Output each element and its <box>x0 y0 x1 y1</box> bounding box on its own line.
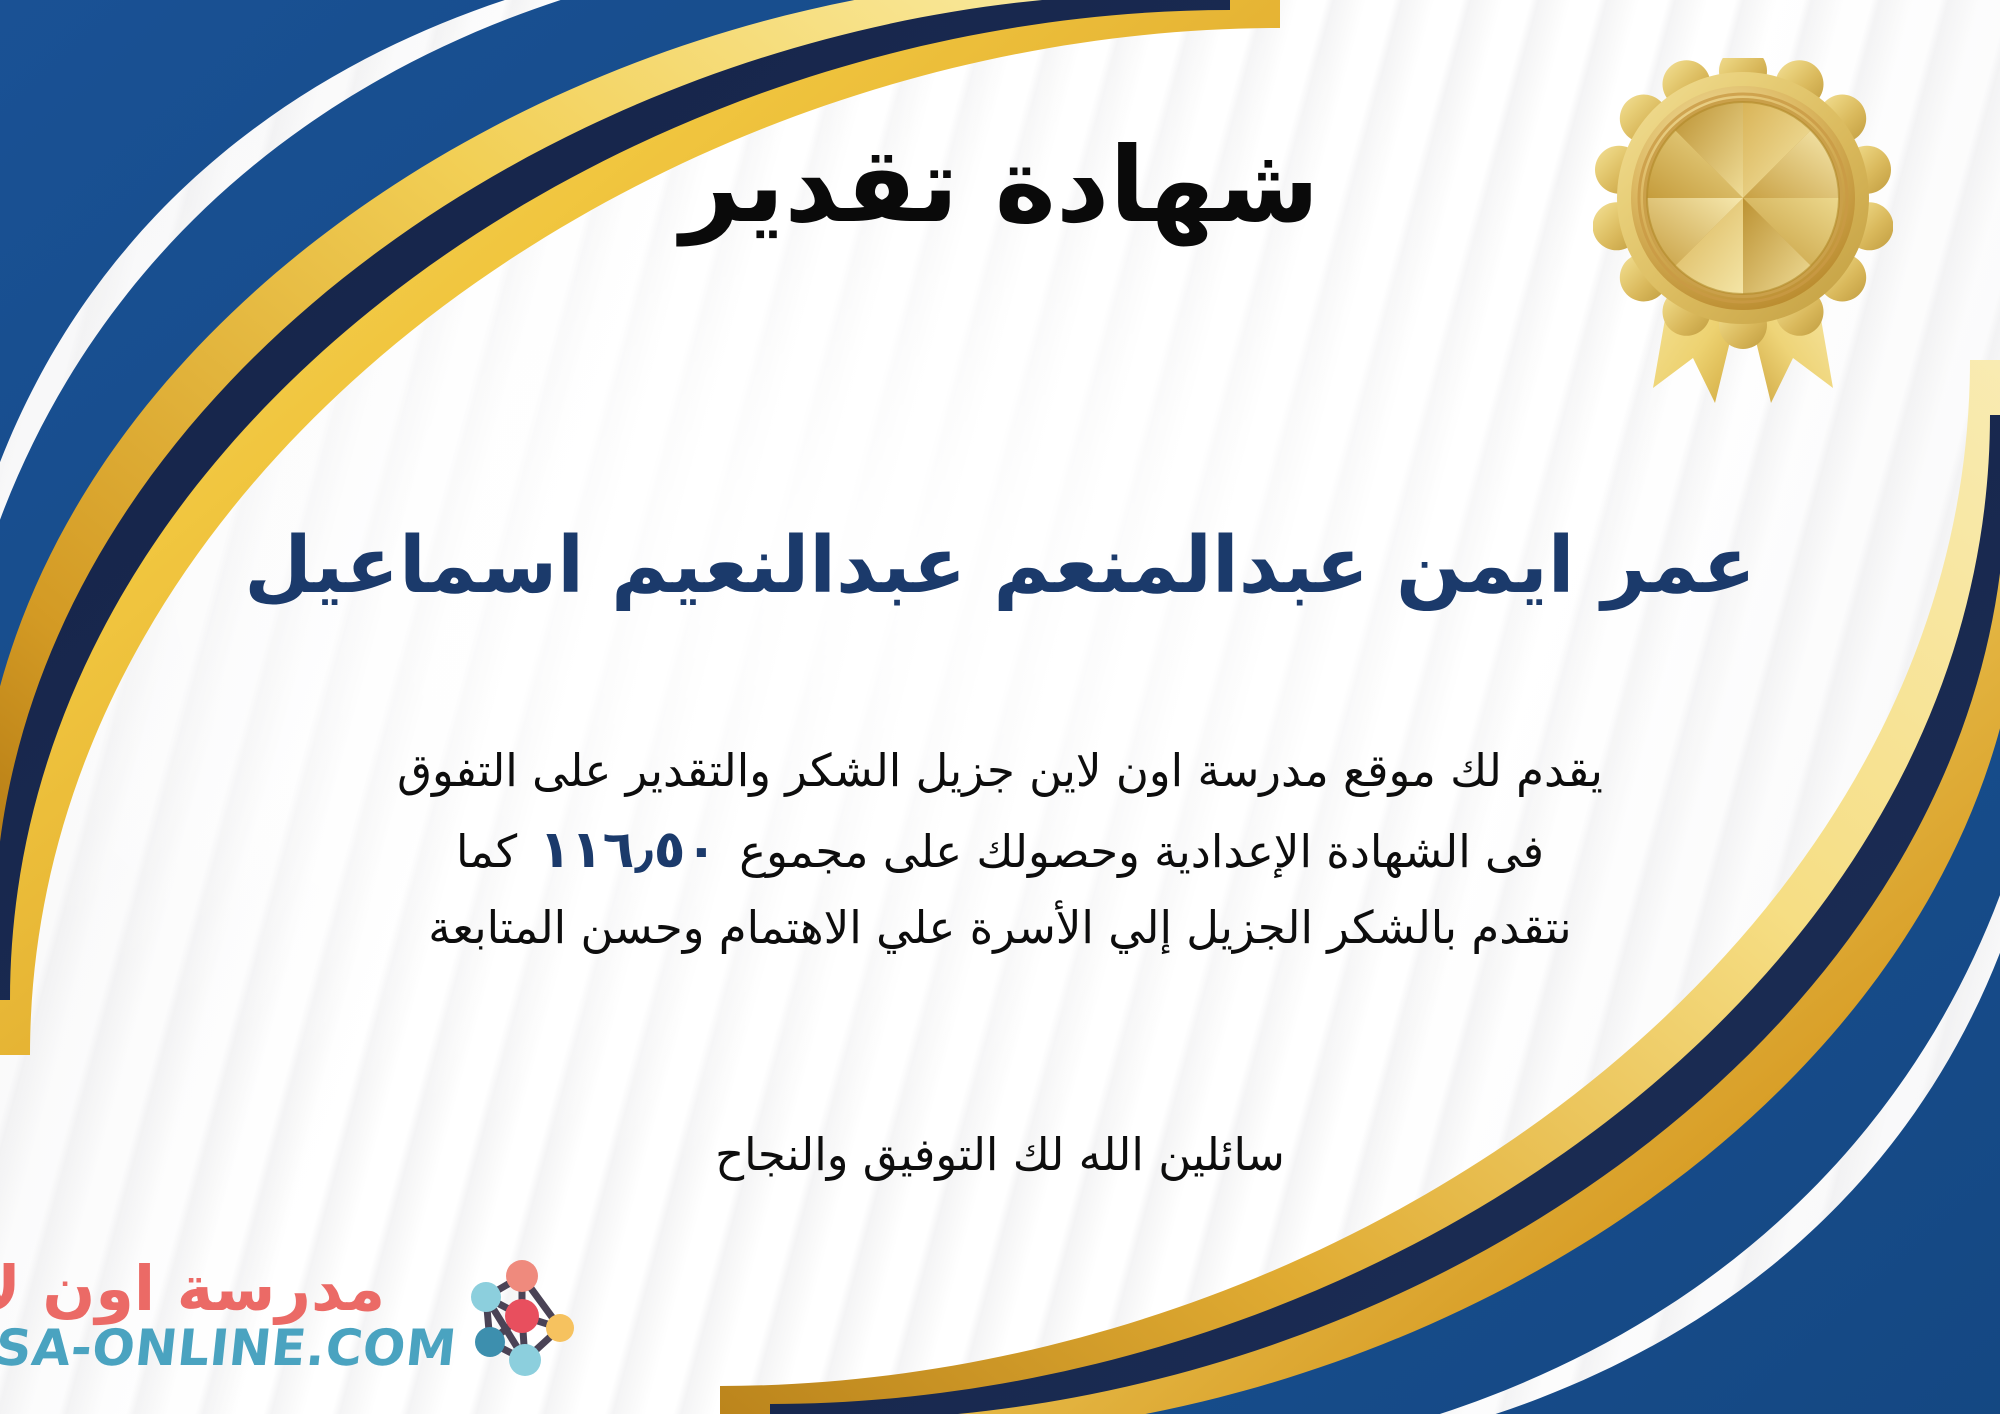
body-line-2: فى الشهادة الإعدادية وحصولك على مجموع١١٦… <box>60 808 1940 892</box>
brand-arabic-name: مدرسة اون لاين <box>0 1256 456 1321</box>
brand-website-url[interactable]: MADRSA-ONLINE.COM <box>0 1321 459 1376</box>
body-line-2-suffix: كما <box>456 825 517 878</box>
closing-wish-text: سائلين الله لك التوفيق والنجاح <box>0 1128 2000 1181</box>
brand-text-block: مدرسة اون لاين MADRSA-ONLINE.COM <box>0 1256 456 1376</box>
body-line-3: نتقدم بالشكر الجزيل إلي الأسرة علي الاهت… <box>60 892 1940 965</box>
student-name: عمر ايمن عبدالمنعم عبدالنعيم اسماعيل <box>40 520 1960 614</box>
body-line-2-prefix: فى الشهادة الإعدادية وحصولك على مجموع <box>739 825 1544 878</box>
body-line-1: يقدم لك موقع مدرسة اون لاين جزيل الشكر و… <box>60 735 1940 808</box>
total-score-value: ١١٦٫٥٠ <box>517 820 739 880</box>
certificate-title: شهادة تقدير <box>0 128 2000 242</box>
network-nodes-icon <box>456 1250 588 1382</box>
certificate-body: يقدم لك موقع مدرسة اون لاين جزيل الشكر و… <box>60 735 1940 965</box>
certificate-content: شهادة تقدير عمر ايمن عبدالمنعم عبدالنعيم… <box>0 0 2000 1414</box>
brand-logo[interactable]: مدرسة اون لاين MADRSA-ONLINE.COM <box>28 1236 588 1396</box>
certificate-canvas: شهادة تقدير عمر ايمن عبدالمنعم عبدالنعيم… <box>0 0 2000 1414</box>
